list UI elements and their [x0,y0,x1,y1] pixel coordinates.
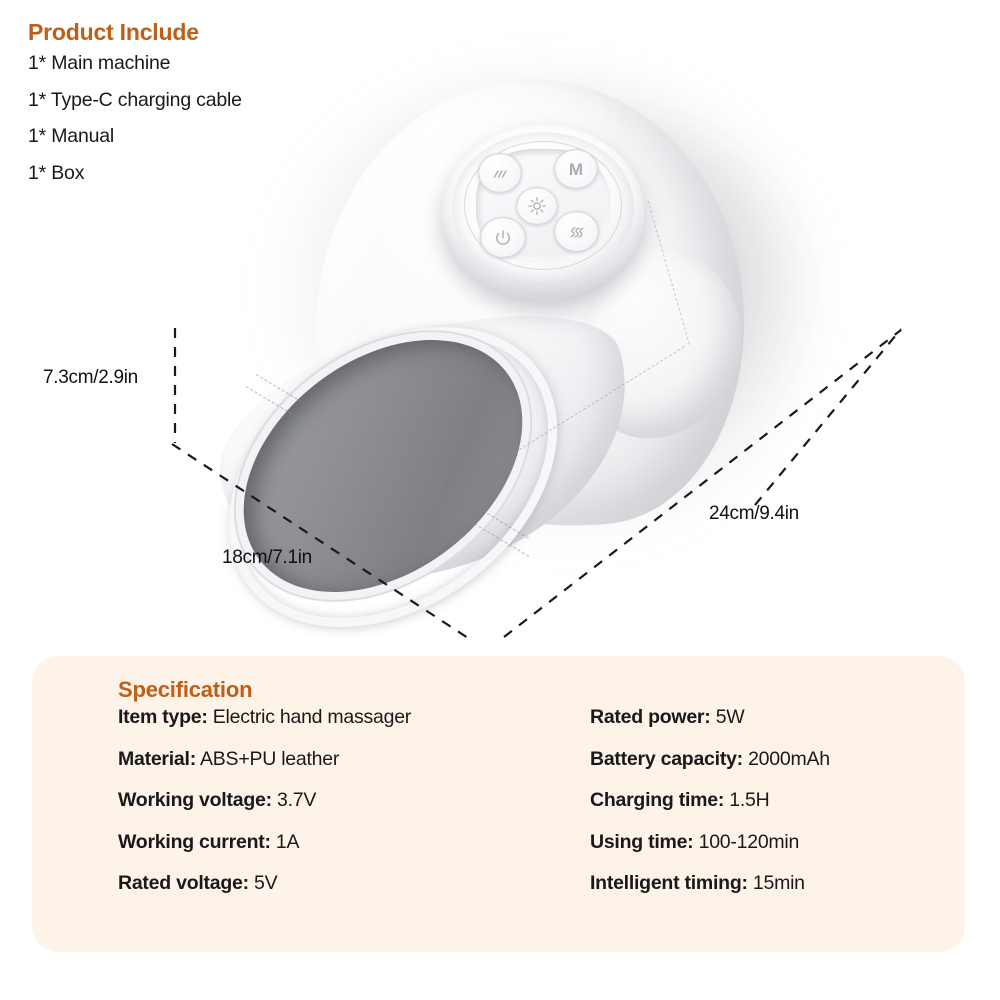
spec-key: Battery capacity: [590,748,743,770]
spec-value: 1A [276,831,299,853]
spec-row: Working voltage: 3.7V [118,791,548,811]
height-dimension-label: 7.3cm/2.9in [43,367,138,389]
spec-value: 1.5H [729,789,769,811]
spec-row: Material: ABS+PU leather [118,750,548,770]
heat-waves-icon [568,224,586,240]
spec-row: Item type: Electric hand massager [118,708,548,728]
mode-button[interactable]: M [554,149,598,189]
product-infographic-page: Product Include 1* Main machine 1* Type-… [0,0,1000,1000]
spec-row: Charging time: 1.5H [590,791,960,811]
spec-key: Item type: [118,706,208,728]
spec-row: Rated power: 5W [590,708,960,728]
spec-value: 15min [753,872,805,894]
spec-value: Electric hand massager [213,706,411,728]
sun-burst-icon [528,197,546,215]
specification-title: Specification [118,678,252,702]
spec-value: 2000mAh [748,748,830,770]
spec-row: Battery capacity: 2000mAh [590,750,960,770]
spec-row: Using time: 100-120min [590,833,960,853]
spec-key: Material: [118,748,196,770]
spec-row: Rated voltage: 5V [118,874,548,894]
spec-key: Rated voltage: [118,872,249,894]
heat-button[interactable] [516,187,558,225]
power-button[interactable] [480,217,526,258]
power-icon [494,229,512,247]
specification-column-left: Item type: Electric hand massager Materi… [118,708,548,916]
spec-row: Working current: 1A [118,833,548,853]
spec-key: Using time: [590,831,693,853]
specification-column-right: Rated power: 5W Battery capacity: 2000mA… [590,708,960,916]
knead-button[interactable] [554,211,599,252]
spec-key: Intelligent timing: [590,872,748,894]
width-dimension-label: 18cm/7.1in [222,547,312,569]
signal-bars-icon [492,166,509,180]
spec-value: 5W [716,706,745,728]
spec-value: 5V [254,872,277,894]
control-pod: M [442,125,644,300]
spec-row: Intelligent timing: 15min [590,874,960,894]
level-button[interactable] [478,153,522,193]
specification-panel: Specification Item type: Electric hand m… [32,656,965,952]
spec-key: Working voltage: [118,789,272,811]
letter-m-icon: M [569,161,583,178]
spec-value: ABS+PU leather [200,748,339,770]
spec-value: 100-120min [699,831,799,853]
spec-key: Charging time: [590,789,724,811]
spec-key: Working current: [118,831,271,853]
depth-dimension-label: 24cm/9.4in [709,503,799,525]
spec-value: 3.7V [277,789,316,811]
spec-key: Rated power: [590,706,711,728]
